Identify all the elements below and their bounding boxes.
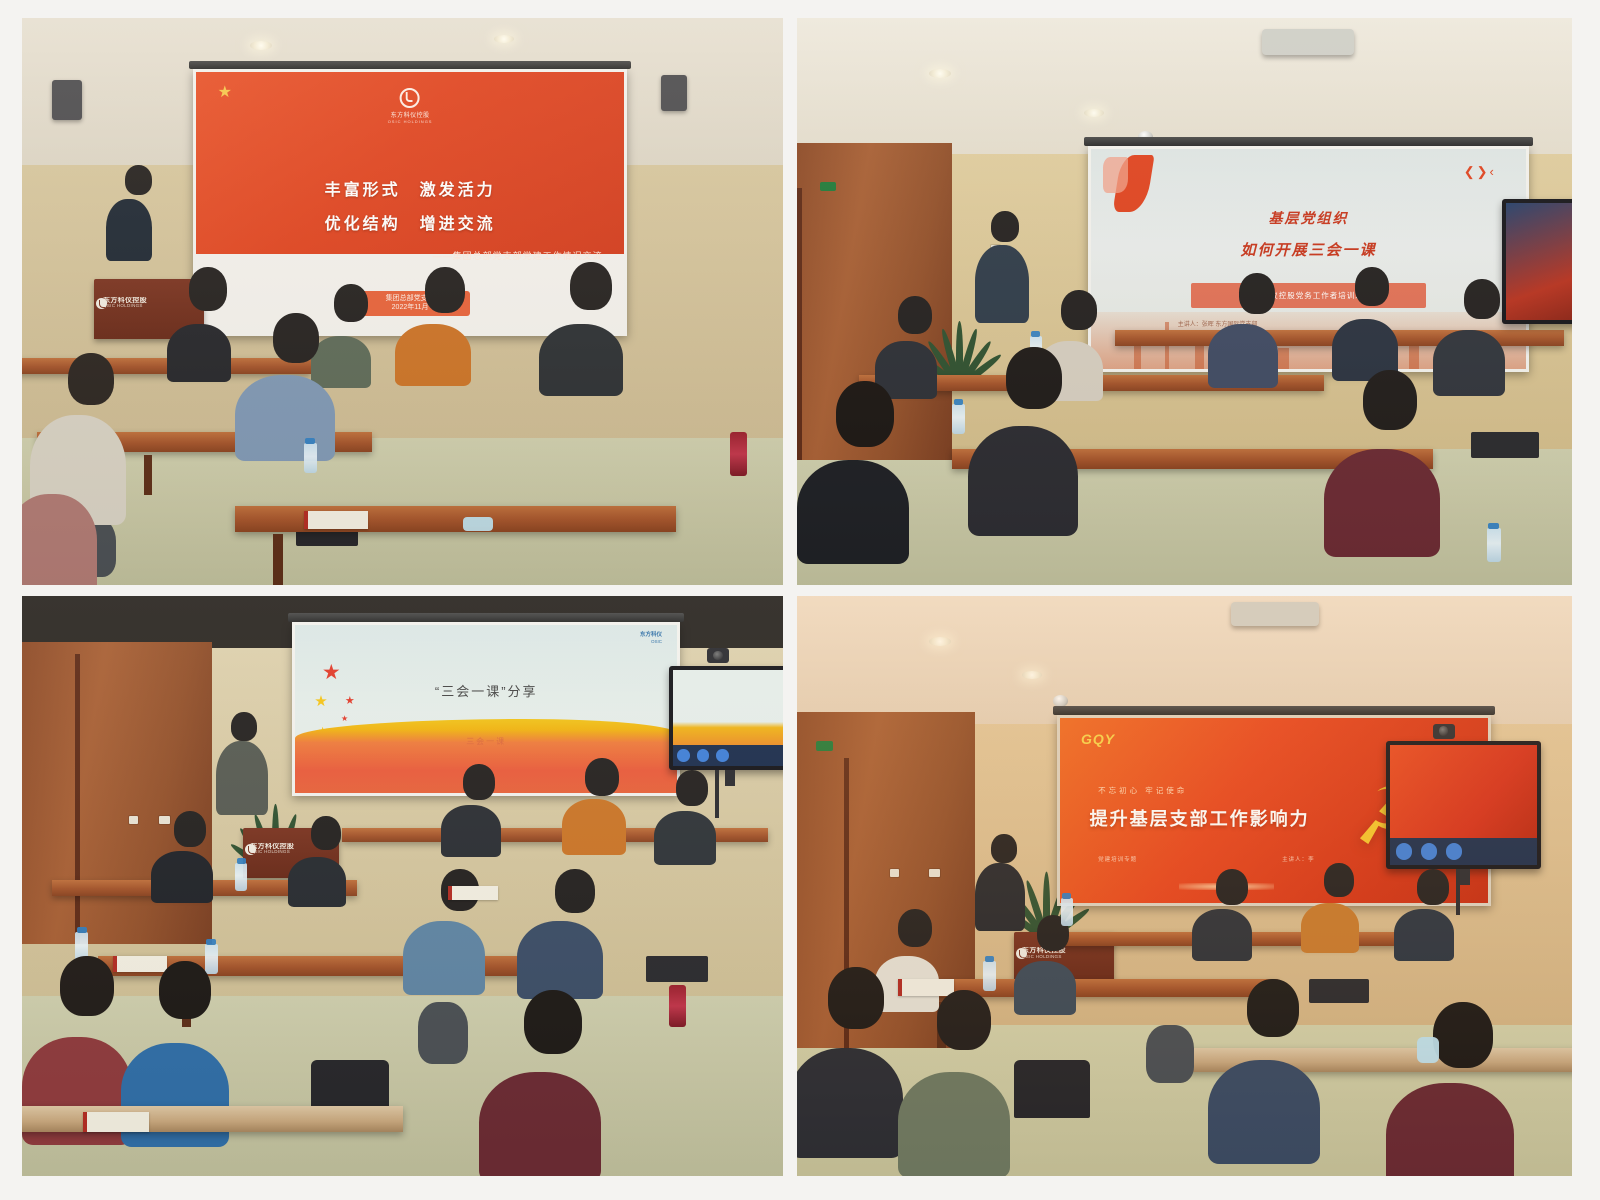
open-notebook (83, 1112, 149, 1132)
audience-head (334, 284, 368, 322)
presenter-body (975, 245, 1029, 323)
desk-side (273, 534, 283, 585)
travel-tumbler (669, 985, 686, 1027)
exit-sign (816, 741, 833, 751)
audience-body (288, 857, 346, 907)
water-bottle (235, 863, 247, 891)
slide-subtitle: 三会一课 (295, 736, 677, 747)
audience-head (1324, 863, 1354, 897)
podium-name-en: OSIC HOLDINGS (103, 304, 195, 309)
door-frame (797, 188, 802, 460)
projection-screen: ★ 东方科仪控股 OSIC HOLDINGS 丰富形式 激发活力 优化结构 增进… (193, 69, 627, 335)
podium-name-en: OSIC HOLDINGS (1022, 955, 1106, 960)
foreground-body (1208, 1060, 1320, 1164)
panel-bottom-right[interactable]: GQY 不忘初心 牢记使命 提升基层支部工作影响力 党建培训专题 主讲人：李 ☭… (797, 596, 1572, 1176)
osic-logo-icon (400, 88, 420, 108)
slide-title-line1: 基层党组织 (1091, 208, 1527, 228)
ceiling-projector (1231, 602, 1319, 626)
panel-top-right[interactable]: ❮❯‹ 基层党组织 如何开展三会一课 东方科仪控股党务工作者培训发言 主讲人：张… (797, 18, 1572, 585)
presenter-head (991, 211, 1019, 242)
door-frame (75, 654, 80, 944)
photo-collage: ★ 东方科仪控股 OSIC HOLDINGS 丰富形式 激发活力 优化结构 增进… (0, 0, 1600, 1200)
slide-logo: 东方科仪 OSIC (640, 632, 662, 645)
downlight (494, 35, 514, 43)
wall-socket (129, 816, 138, 824)
video-conference-monitor[interactable] (669, 666, 783, 770)
audience-body (235, 375, 335, 461)
audience-body (395, 324, 471, 386)
screen-roller (288, 613, 684, 622)
backpack (1146, 1025, 1194, 1083)
screen-roller (1053, 706, 1495, 715)
wall-socket (890, 869, 899, 877)
audience-body (1192, 909, 1252, 961)
foreground-head (1247, 979, 1299, 1037)
screen-roller (189, 61, 630, 69)
laptop (1471, 432, 1539, 458)
party-emblem-icon: ★ (218, 85, 236, 103)
audience-head (898, 909, 932, 947)
audience-head (585, 758, 619, 796)
presenter-head (991, 834, 1017, 863)
audience-body (311, 336, 371, 388)
audience-body (1208, 324, 1278, 388)
presenter-head (231, 712, 257, 741)
flag-ribbon-icon (1099, 155, 1195, 212)
monitor-stand (725, 770, 735, 786)
presenter-body (975, 863, 1025, 931)
audience-head (898, 296, 932, 334)
wall-tv[interactable] (1386, 741, 1541, 869)
floor (797, 449, 1572, 585)
wall-socket (159, 816, 170, 824)
chair (1014, 1060, 1090, 1118)
open-notebook (304, 511, 368, 529)
water-bottle (205, 944, 218, 974)
conference-camera-icon (707, 648, 729, 663)
audience-body (151, 851, 213, 903)
presenter-head (125, 165, 152, 195)
audience-head (570, 262, 612, 310)
slide-title: “三会一课”分享 (295, 681, 677, 700)
tripod (715, 770, 719, 818)
audience-body (167, 324, 231, 382)
audience-body (654, 811, 716, 865)
foreground-head (836, 381, 894, 447)
slide-title-line2: 如何开展三会一课 (1091, 239, 1527, 260)
audience-head (311, 816, 341, 850)
audience-body (441, 805, 501, 857)
foreground-head (828, 967, 884, 1029)
open-notebook (448, 886, 498, 900)
audience-head (425, 267, 465, 313)
slide-kicker: 不忘初心 牢记使命 (1098, 785, 1187, 796)
tripod (1456, 869, 1460, 915)
conference-control-bar[interactable] (673, 745, 783, 766)
gqy-logo: GQY (1081, 731, 1115, 747)
foreground-body (797, 460, 909, 564)
audience-head (1216, 869, 1248, 905)
wall-monitor[interactable] (1502, 199, 1572, 324)
water-bottle (952, 404, 965, 434)
audience-head (1061, 290, 1097, 330)
backpack (418, 1002, 468, 1064)
audience-body (517, 921, 603, 999)
audience-body (1014, 961, 1076, 1015)
slide-orange-party: ★ 东方科仪控股 OSIC HOLDINGS 丰富形式 激发活力 优化结构 增进… (196, 72, 624, 332)
podium-name-en: OSIC HOLDINGS (250, 850, 331, 855)
face-mask (1417, 1037, 1439, 1063)
desk-row-front (22, 1106, 403, 1132)
conference-control-bar[interactable] (1390, 838, 1537, 864)
water-bottle (304, 443, 317, 473)
audience-head (1417, 869, 1449, 905)
brand-name-cn: 东方科仪控股 (388, 110, 433, 119)
downlight (1084, 109, 1104, 117)
panel-top-left[interactable]: ★ 东方科仪控股 OSIC HOLDINGS 丰富形式 激发活力 优化结构 增进… (22, 18, 783, 585)
water-bottle (983, 961, 996, 991)
podium-label: 东方科仪控股 OSIC HOLDINGS (103, 297, 195, 317)
slide-title-line2: 优化结构 增进交流 (196, 210, 624, 234)
slide-logo-en: OSIC (651, 639, 662, 644)
audience-head (189, 267, 227, 311)
foreground-body (22, 494, 97, 585)
downlight (250, 41, 272, 50)
downlight (929, 69, 951, 78)
audience-head (1239, 273, 1275, 314)
foreground-body (1386, 1083, 1514, 1176)
presenter-body (216, 741, 268, 815)
foreground-head (1433, 1002, 1493, 1068)
brand-lockup: 东方科仪控股 OSIC HOLDINGS (388, 88, 433, 124)
audience-body (1394, 909, 1454, 961)
foreground-body (479, 1072, 601, 1176)
desk-row-front (235, 506, 676, 532)
doves-icon: ❮❯‹ (1464, 164, 1496, 180)
presenter-body (106, 199, 152, 261)
audience-head (555, 869, 595, 913)
dome-camera-icon (1053, 695, 1068, 707)
conference-camera-icon (1433, 724, 1455, 739)
monitor-screen (673, 670, 783, 766)
foreground-head (1363, 370, 1417, 430)
audience-body (1301, 903, 1359, 953)
laptop (1309, 979, 1369, 1003)
wall-speaker (661, 75, 687, 111)
open-notebook (113, 956, 167, 972)
foreground-body (797, 1048, 903, 1158)
ceiling (797, 596, 1572, 724)
exit-sign (820, 182, 836, 191)
travel-tumbler (730, 432, 747, 476)
laptop (646, 956, 708, 982)
foreground-body (1324, 449, 1440, 557)
open-notebook (898, 979, 954, 996)
foreground-head (68, 353, 114, 405)
downlight (929, 637, 951, 646)
face-mask (463, 517, 493, 531)
tv-screen (1390, 745, 1537, 865)
audience-head (174, 811, 206, 847)
wall-speaker (52, 80, 82, 120)
audience-body (1433, 330, 1505, 396)
foreground-head (524, 990, 582, 1054)
slide-band: 东方科仪控股党务工作者培训发言 (1191, 283, 1426, 307)
water-bottle (1061, 898, 1073, 926)
audience-body (403, 921, 485, 995)
foreground-head (60, 956, 114, 1016)
slide-logo-cn: 东方科仪 (640, 632, 662, 639)
audience-head (463, 764, 495, 800)
audience-head (1355, 267, 1389, 306)
audience-body (539, 324, 623, 396)
foreground-head (937, 990, 991, 1050)
brand-name-en: OSIC HOLDINGS (388, 119, 433, 124)
audience-head (676, 770, 708, 806)
desk-side (144, 455, 152, 495)
water-bottle (1487, 528, 1501, 562)
slide-subtitle: ——集团总部党支部党建工作情况交流 (433, 249, 603, 262)
monitor-screen (1506, 203, 1572, 320)
slide-band-text: 东方科仪控股党务工作者培训发言 (1191, 283, 1426, 307)
wall-socket (929, 869, 940, 877)
slide-title: 提升基层支部工作影响力 (1090, 805, 1310, 831)
foreground-head (1006, 347, 1062, 409)
panel-bottom-left[interactable]: 东方科仪 OSIC ★ ★ ★ ★ ★ ★ “三会一课”分享 三会一课 (22, 596, 783, 1176)
slide-title-line1: 丰富形式 激发活力 (196, 176, 624, 200)
ceiling-projector (1262, 29, 1354, 55)
star-icon: ★ (341, 714, 348, 723)
slide-meta-left: 党建培训专题 (1098, 855, 1137, 863)
foreground-head (159, 961, 211, 1019)
ceiling (797, 18, 1572, 154)
audience-body (562, 799, 626, 855)
foreground-body (968, 426, 1078, 536)
audience-head (273, 313, 319, 363)
foreground-body (898, 1072, 1010, 1176)
audience-head (1464, 279, 1500, 319)
